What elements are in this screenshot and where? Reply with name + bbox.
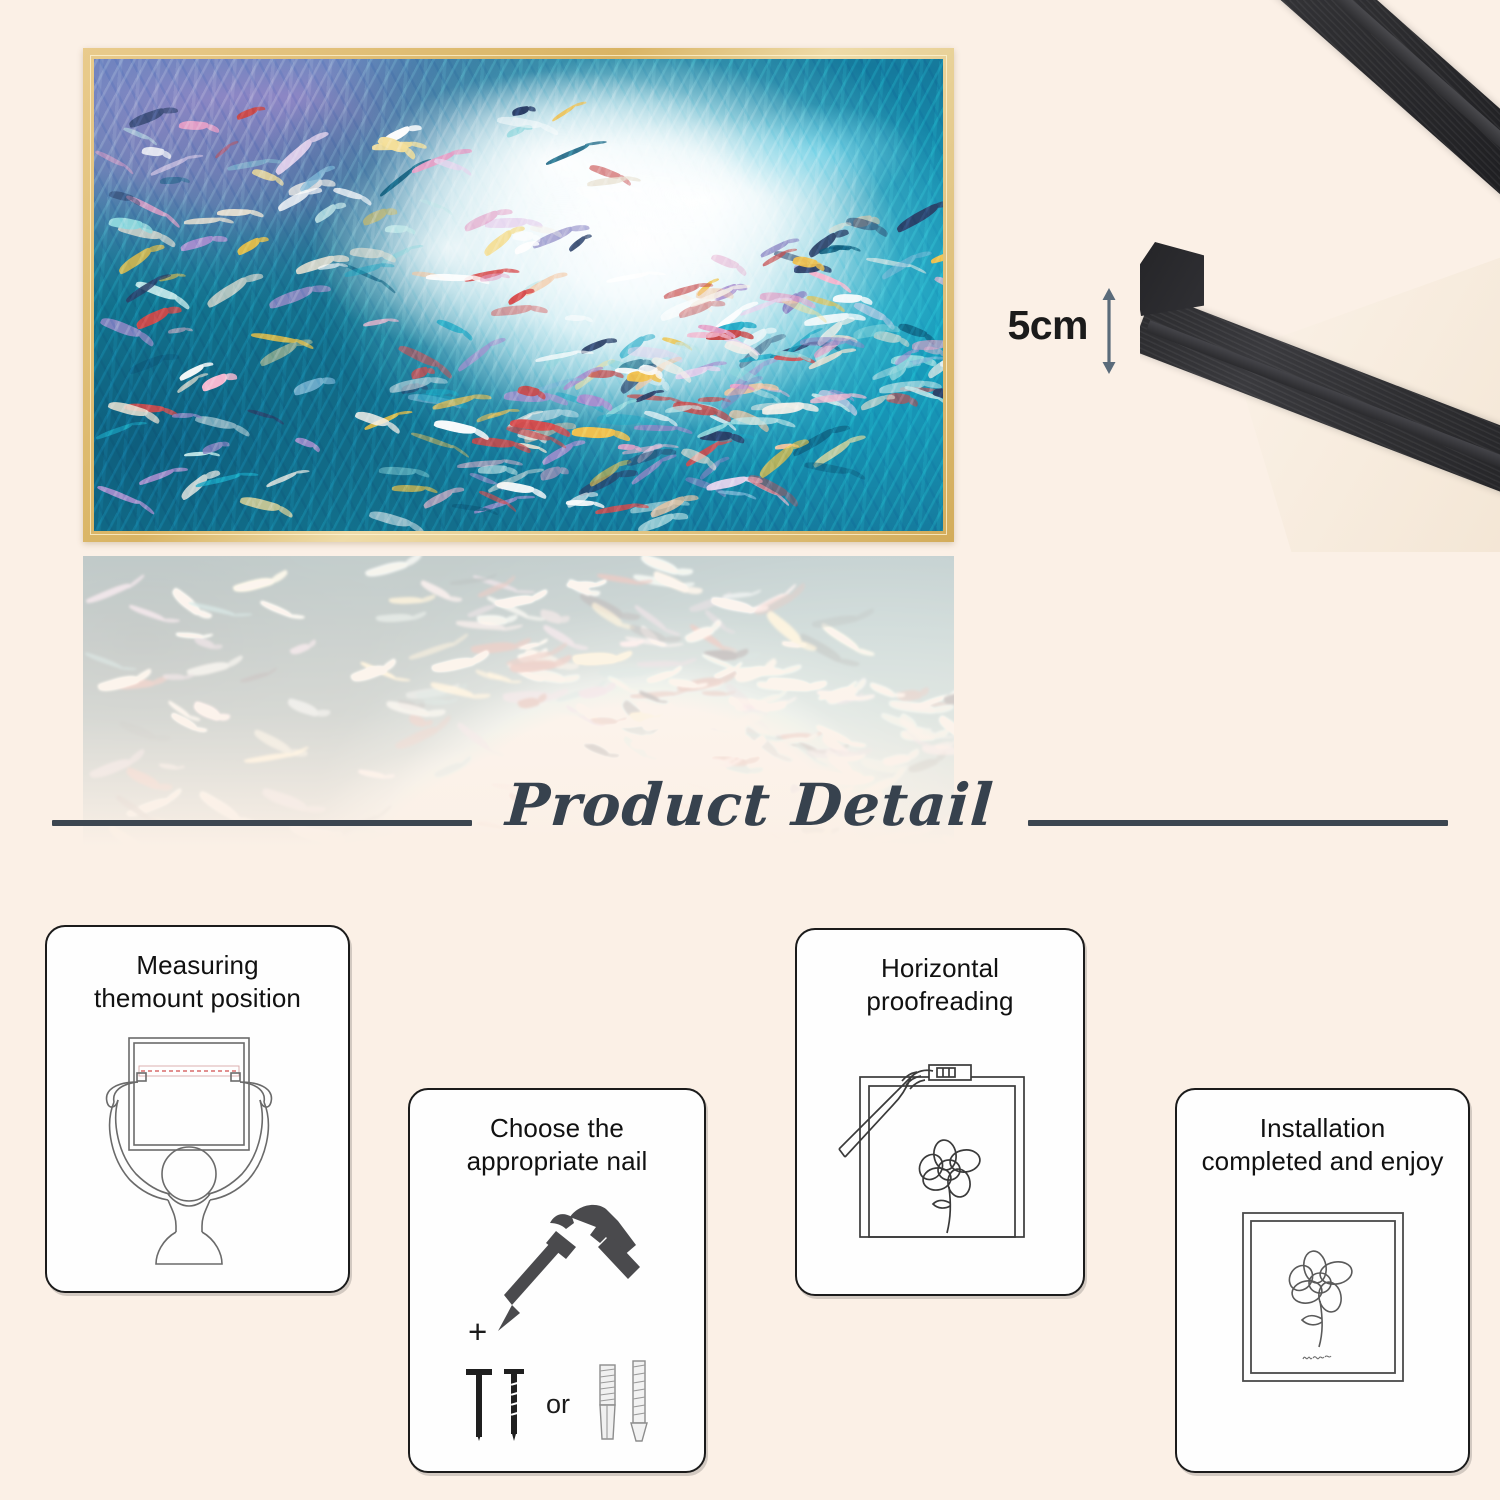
step-illustration: + or	[410, 1177, 704, 1471]
step-card-title: Measuring themount position	[94, 949, 301, 1014]
painted-fish	[914, 693, 949, 710]
painted-fish	[518, 640, 541, 650]
painted-fish	[665, 748, 689, 761]
painted-fish	[397, 700, 418, 711]
painted-fish	[619, 699, 652, 728]
heading-rule-left	[52, 820, 472, 826]
painted-fish	[777, 735, 808, 747]
painted-fish	[637, 659, 681, 668]
painted-fish	[509, 657, 556, 676]
painted-fish	[763, 610, 805, 646]
step-card-title: Installation completed and enjoy	[1202, 1112, 1444, 1177]
painted-fish	[837, 694, 858, 706]
painted-fish	[175, 633, 202, 638]
painted-fish	[888, 700, 936, 714]
painted-fish	[723, 592, 752, 601]
painted-fish	[702, 690, 727, 696]
painted-fish	[641, 716, 662, 733]
painted-fish	[753, 589, 795, 619]
painted-fish	[597, 574, 638, 585]
painted-fish	[630, 735, 673, 752]
painted-fish	[723, 743, 758, 764]
painted-fish	[679, 682, 712, 692]
painted-fish	[128, 604, 166, 622]
painted-fish	[689, 596, 722, 616]
painted-fish	[922, 745, 954, 756]
painted-fish	[450, 576, 485, 586]
painted-fish	[286, 698, 320, 718]
painted-fish	[757, 682, 794, 690]
painted-fish	[701, 653, 734, 670]
painted-fish	[639, 556, 680, 576]
painted-fish	[679, 743, 702, 756]
painted-fish	[647, 705, 670, 725]
frame-mitre-joint	[1140, 242, 1204, 316]
step-card-installation-completed[interactable]: Installation completed and enjoy	[1175, 1088, 1470, 1473]
painted-fish	[820, 736, 852, 758]
hand-with-spirit-level-on-frame-icon	[833, 1057, 1048, 1257]
painted-fish	[574, 703, 608, 731]
painted-fish	[734, 662, 768, 686]
painted-fish	[394, 723, 439, 753]
section-heading: Product Detail	[0, 766, 1500, 844]
painted-fish	[251, 728, 293, 755]
painted-fish	[617, 718, 646, 729]
hammer-and-nails-icon: + or	[450, 1191, 665, 1446]
painted-fish	[654, 716, 689, 741]
painted-fish	[86, 581, 131, 606]
painted-fish	[817, 690, 860, 701]
painted-fish	[880, 713, 919, 732]
painted-fish	[408, 715, 427, 728]
painted-fish	[468, 602, 495, 619]
dimension-label: 5cm	[1000, 302, 1088, 349]
painted-fish	[405, 686, 446, 702]
painted-fish	[900, 729, 935, 742]
painted-fish	[187, 601, 235, 616]
or-label: or	[546, 1389, 570, 1419]
painted-fish	[566, 579, 592, 597]
step-illustration	[47, 1014, 348, 1291]
painted-fish	[934, 739, 954, 752]
step-card-choose-nail[interactable]: Choose the appropriate nail +	[408, 1088, 706, 1473]
painted-fish	[691, 758, 724, 765]
step-illustration	[1177, 1177, 1468, 1471]
painted-fish	[169, 588, 203, 617]
painting-impasto-texture	[94, 59, 943, 531]
painted-fish	[775, 736, 818, 753]
frame-depth-dimension: 5cm	[1000, 288, 1130, 374]
painted-fish	[819, 622, 861, 652]
painted-fish	[486, 672, 511, 683]
painted-fish	[475, 669, 495, 680]
painted-fish	[629, 623, 668, 642]
painted-fish	[820, 732, 842, 752]
painted-fish	[581, 741, 610, 758]
painted-fish	[636, 702, 675, 734]
svg-text:+: +	[468, 1313, 487, 1350]
painted-fish	[868, 681, 896, 698]
step-illustration	[797, 1017, 1083, 1294]
vertical-double-arrow-icon	[1100, 288, 1118, 374]
painted-fish	[704, 649, 738, 663]
painted-fish	[685, 623, 716, 646]
painted-fish	[688, 623, 725, 649]
painted-fish	[951, 728, 954, 739]
painted-fish	[807, 748, 855, 759]
painted-fish	[736, 704, 755, 711]
framed-flower-artwork-icon	[1233, 1205, 1413, 1405]
painted-fish	[424, 698, 449, 705]
painted-fish	[523, 668, 566, 684]
painted-fish	[578, 592, 625, 619]
painted-fish	[638, 626, 661, 646]
painted-fish	[710, 597, 753, 613]
painting-canvas	[94, 59, 943, 531]
painted-fish	[625, 636, 668, 647]
painted-fish	[385, 700, 430, 717]
painted-fish	[735, 708, 764, 730]
painted-fish	[764, 699, 789, 710]
painted-fish	[503, 689, 552, 705]
painted-fish	[780, 732, 811, 742]
painted-fish	[782, 641, 800, 647]
painted-fish	[638, 690, 661, 703]
painted-fish	[590, 716, 618, 726]
painted-fish	[936, 715, 954, 737]
painted-fish	[679, 714, 714, 728]
painted-fish	[669, 679, 697, 688]
painted-fish	[517, 649, 541, 665]
painted-fish	[652, 570, 691, 593]
painted-fish	[903, 729, 924, 745]
painted-fish	[513, 844, 534, 846]
page-title: Product Detail	[470, 771, 1030, 839]
painted-fish	[240, 671, 269, 685]
black-frame-corner-photo	[1140, 0, 1500, 590]
painted-fish	[620, 639, 638, 647]
painted-fish	[748, 591, 785, 615]
painted-fish	[811, 613, 858, 631]
painted-fish	[818, 685, 848, 702]
painted-fish	[485, 596, 529, 619]
painted-fish	[744, 732, 788, 743]
step-card-title: Choose the appropriate nail	[467, 1112, 648, 1177]
painted-fish	[599, 665, 645, 680]
painted-fish	[415, 686, 454, 703]
painted-fish	[589, 602, 624, 627]
painted-fish	[943, 690, 954, 708]
painted-fish	[535, 733, 579, 745]
painted-fish	[609, 715, 645, 738]
painted-fish	[619, 735, 650, 760]
painted-fish	[563, 703, 596, 725]
painted-fish	[472, 575, 518, 592]
painted-fish	[350, 662, 387, 685]
painted-fish	[192, 701, 222, 721]
painted-fish	[429, 682, 474, 698]
painted-fish	[244, 750, 292, 765]
painted-fish	[470, 640, 515, 656]
painted-fish	[408, 640, 454, 662]
painted-fish	[289, 641, 311, 657]
painted-fish	[455, 621, 504, 630]
painted-fish	[797, 633, 843, 664]
painted-fish	[703, 610, 728, 631]
painted-fish	[228, 844, 255, 846]
painted-fish	[742, 726, 781, 759]
painted-fish	[907, 726, 944, 738]
painted-fish	[759, 692, 782, 707]
painted-fish	[516, 695, 539, 711]
painted-fish	[573, 651, 618, 667]
painted-fish	[118, 719, 158, 740]
painted-fish	[477, 614, 507, 625]
painted-fish	[788, 737, 819, 763]
painted-fish	[729, 738, 758, 758]
painted-fish	[619, 721, 647, 737]
painted-fish	[896, 687, 922, 703]
painted-fish	[736, 666, 784, 677]
frame-bar-top	[1140, 0, 1500, 262]
painted-fish	[630, 690, 675, 701]
painted-fish	[824, 744, 844, 756]
painted-fish	[232, 574, 274, 595]
painted-fish	[910, 700, 944, 708]
step-card-measuring[interactable]: Measuring themount position	[45, 925, 350, 1293]
painted-fish	[684, 714, 720, 732]
painted-fish	[170, 713, 198, 731]
painted-fish	[532, 699, 572, 715]
painted-fish	[506, 663, 534, 680]
painted-fish	[193, 636, 215, 649]
painted-fish	[607, 675, 632, 692]
painted-fish	[815, 725, 853, 746]
painted-fish	[542, 723, 568, 744]
heading-rule-right	[1028, 820, 1448, 826]
painted-fish	[711, 756, 747, 766]
painted-fish	[167, 700, 193, 719]
step-card-title: Horizontal proofreading	[866, 952, 1013, 1017]
painted-fish	[578, 683, 608, 702]
painted-fish	[375, 612, 413, 624]
painted-fish	[556, 685, 594, 704]
painted-fish	[506, 648, 552, 669]
painted-fish	[97, 673, 139, 695]
painted-fish	[714, 665, 736, 679]
painted-fish	[419, 580, 452, 601]
painted-fish	[477, 581, 507, 600]
painted-fish	[825, 682, 859, 708]
painted-fish	[364, 557, 408, 580]
painted-fish	[896, 712, 919, 732]
painted-fish	[723, 683, 759, 714]
painted-fish	[729, 697, 771, 711]
framed-painting	[83, 48, 954, 542]
person-holding-frame-measuring-icon	[98, 1026, 298, 1271]
painted-fish	[633, 604, 669, 631]
painted-fish	[84, 652, 123, 669]
step-card-horizontal-proofreading[interactable]: Horizontal proofreading	[795, 928, 1085, 1296]
painted-fish	[733, 702, 772, 733]
painted-fish	[454, 722, 493, 753]
painted-fish	[389, 596, 424, 606]
painted-fish	[431, 654, 475, 675]
painted-fish	[360, 661, 397, 680]
painted-fish	[539, 609, 562, 624]
painted-fish	[523, 648, 565, 670]
painted-fish	[496, 593, 535, 611]
painted-fish	[633, 574, 678, 588]
painted-fish	[839, 754, 859, 762]
painted-fish	[647, 669, 674, 684]
painted-fish	[567, 581, 596, 590]
painted-fish	[724, 649, 750, 658]
painted-fish	[629, 711, 656, 725]
painted-fish	[676, 673, 722, 694]
artist-signature	[1303, 1356, 1331, 1359]
painted-fish	[541, 625, 577, 649]
painted-fish	[186, 659, 229, 680]
painted-fish	[768, 678, 811, 691]
painted-fish	[113, 677, 155, 691]
painted-fish	[259, 601, 293, 619]
painted-fish	[163, 674, 186, 680]
